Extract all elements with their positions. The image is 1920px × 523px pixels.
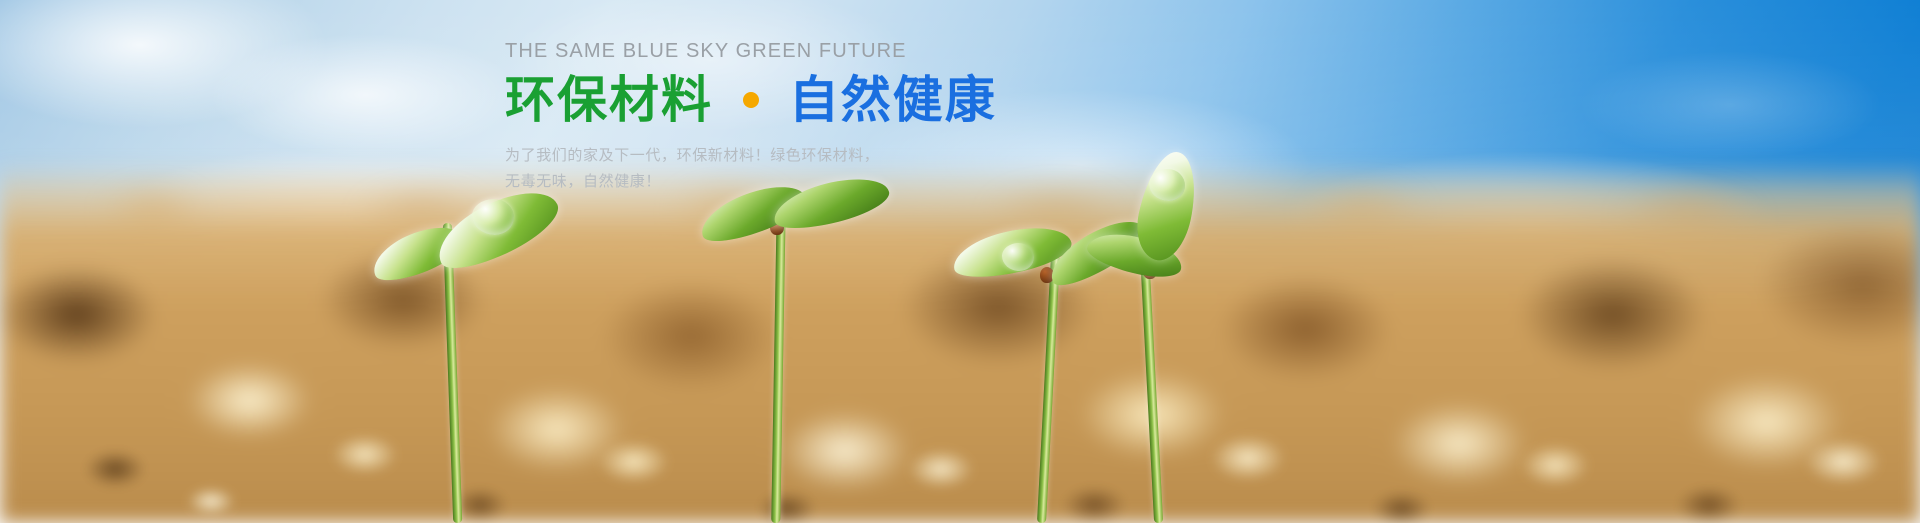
banner-headline: 环保材料 自然健康 bbox=[505, 70, 1405, 131]
stem bbox=[1037, 255, 1060, 523]
sprout-left bbox=[380, 163, 600, 523]
headline-green-text: 环保材料 bbox=[505, 72, 713, 128]
sprout-right-b bbox=[1075, 183, 1295, 523]
banner-copy: THE SAME BLUE SKY GREEN FUTURE 环保材料 自然健康… bbox=[505, 40, 1405, 196]
stem bbox=[771, 205, 786, 523]
banner-subtitle: 为了我们的家及下一代，环保新材料！绿色环保材料， 无毒无味，自然健康！ bbox=[505, 143, 1405, 196]
sprout-middle bbox=[690, 143, 920, 523]
orange-dot-icon bbox=[743, 92, 759, 108]
stem bbox=[1140, 251, 1163, 523]
hero-banner: THE SAME BLUE SKY GREEN FUTURE 环保材料 自然健康… bbox=[0, 0, 1920, 523]
subtitle-line-1: 为了我们的家及下一代，环保新材料！绿色环保材料， bbox=[505, 143, 1405, 169]
banner-eyebrow: THE SAME BLUE SKY GREEN FUTURE bbox=[505, 40, 1405, 62]
dew-drop bbox=[472, 199, 514, 235]
subtitle-line-2: 无毒无味，自然健康！ bbox=[505, 169, 1405, 195]
dew-drop bbox=[1002, 243, 1034, 271]
headline-blue-text: 自然健康 bbox=[789, 72, 997, 128]
